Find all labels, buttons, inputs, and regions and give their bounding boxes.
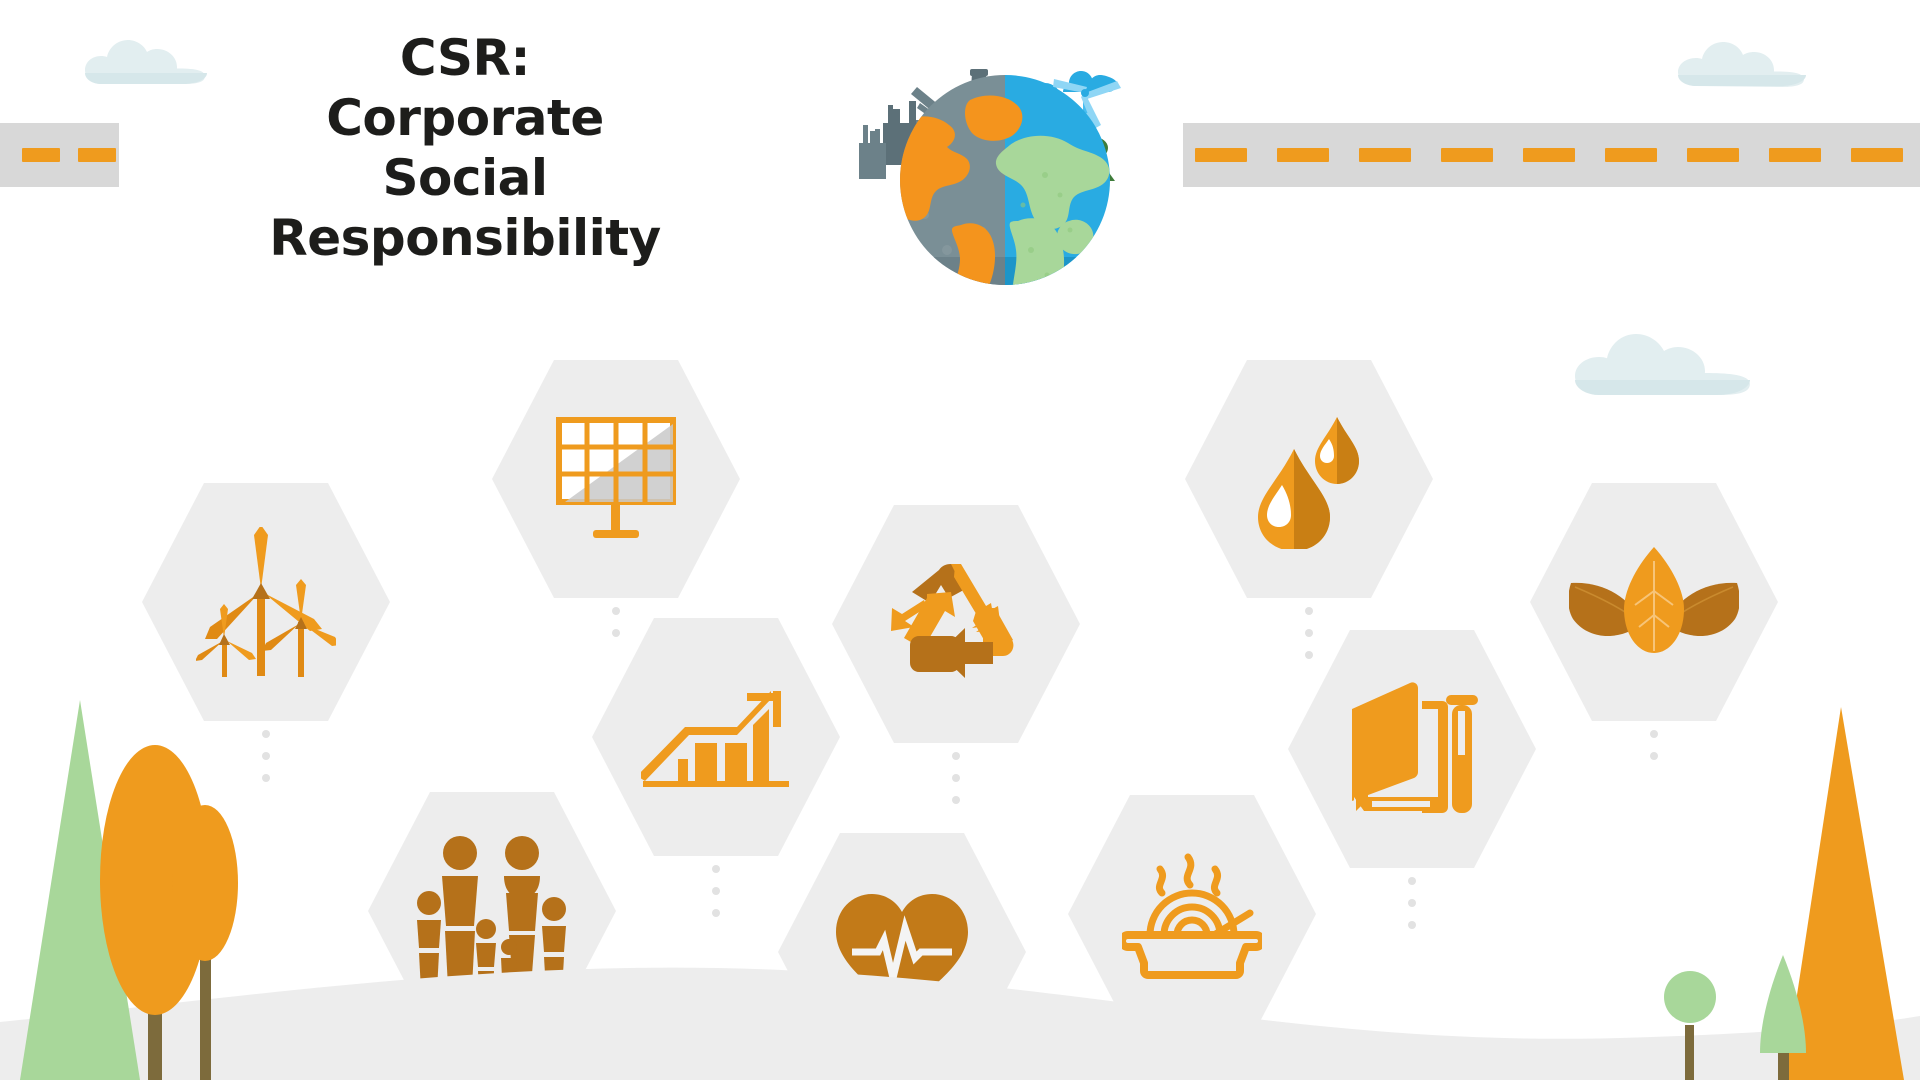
- hex-nature-stem: [1650, 730, 1658, 774]
- road-dash: [1277, 148, 1329, 162]
- hex-education-stem: [1408, 877, 1416, 943]
- hex-recycling-stem: [952, 752, 960, 818]
- stem-dot: [712, 865, 720, 873]
- hex-growth-stem: [712, 865, 720, 931]
- road-dash: [22, 148, 60, 162]
- road-dash: [1687, 148, 1739, 162]
- hex-solar-energy[interactable]: [492, 355, 740, 603]
- hex-education[interactable]: [1288, 625, 1536, 873]
- title-line-3: Social: [230, 148, 700, 208]
- hex-water-stem: [1305, 607, 1313, 673]
- road-dash: [1605, 148, 1657, 162]
- stem-dot: [262, 730, 270, 738]
- stem-dot: [1650, 730, 1658, 738]
- stem-dot: [262, 774, 270, 782]
- stem-dot: [1408, 899, 1416, 907]
- road-dash: [1523, 148, 1575, 162]
- cloud-top-left-icon: [85, 28, 207, 90]
- stem-dot: [1305, 629, 1313, 637]
- growth-chart-icon: [641, 677, 791, 797]
- stem-dot: [1650, 752, 1658, 760]
- hex-recycling[interactable]: [832, 500, 1080, 748]
- road-dash: [1195, 148, 1247, 162]
- cloud-mid-right-icon: [1575, 320, 1750, 402]
- stem-dot: [612, 629, 620, 637]
- book-test-tube-icon: [1342, 679, 1482, 819]
- road-left: [0, 123, 119, 187]
- road-right: [1183, 123, 1920, 187]
- hex-wind-energy-stem: [262, 730, 270, 796]
- slide-title: CSR: Corporate Social Responsibility: [230, 28, 700, 268]
- earth-globe-illustration: [855, 25, 1155, 290]
- stem-dot: [612, 607, 620, 615]
- stem-dot: [952, 752, 960, 760]
- title-line-4: Responsibility: [230, 208, 700, 268]
- stem-dot: [952, 796, 960, 804]
- road-dash: [1441, 148, 1493, 162]
- stem-dot: [262, 752, 270, 760]
- wind-turbines-icon: [196, 527, 336, 677]
- hex-water[interactable]: [1185, 355, 1433, 603]
- road-dash: [1851, 148, 1903, 162]
- road-dash: [78, 148, 116, 162]
- ground-hill: [0, 960, 1920, 1080]
- stem-dot: [1408, 877, 1416, 885]
- leaves-icon: [1569, 547, 1739, 657]
- hex-nature[interactable]: [1530, 478, 1778, 726]
- hex-growth[interactable]: [592, 613, 840, 861]
- stem-dot: [952, 774, 960, 782]
- water-drops-icon: [1244, 409, 1374, 549]
- tree-pine-green-right: [1752, 955, 1814, 1080]
- stem-dot: [712, 909, 720, 917]
- title-line-1: CSR:: [230, 28, 700, 88]
- hex-solar-energy-stem: [612, 607, 620, 651]
- tree-oval-orange-small: [172, 805, 238, 1080]
- recycle-icon: [891, 562, 1021, 686]
- road-dash: [1769, 148, 1821, 162]
- stem-dot: [712, 887, 720, 895]
- title-line-2: Corporate: [230, 88, 700, 148]
- stem-dot: [1305, 651, 1313, 659]
- solar-panel-icon: [551, 414, 681, 544]
- stem-dot: [1408, 921, 1416, 929]
- tree-round-green-small: [1660, 967, 1720, 1080]
- stem-dot: [1305, 607, 1313, 615]
- slide-canvas: CSR: Corporate Social Responsibility: [0, 0, 1920, 1080]
- cloud-top-right-icon: [1678, 30, 1806, 92]
- road-dash: [1359, 148, 1411, 162]
- hex-wind-energy[interactable]: [142, 478, 390, 726]
